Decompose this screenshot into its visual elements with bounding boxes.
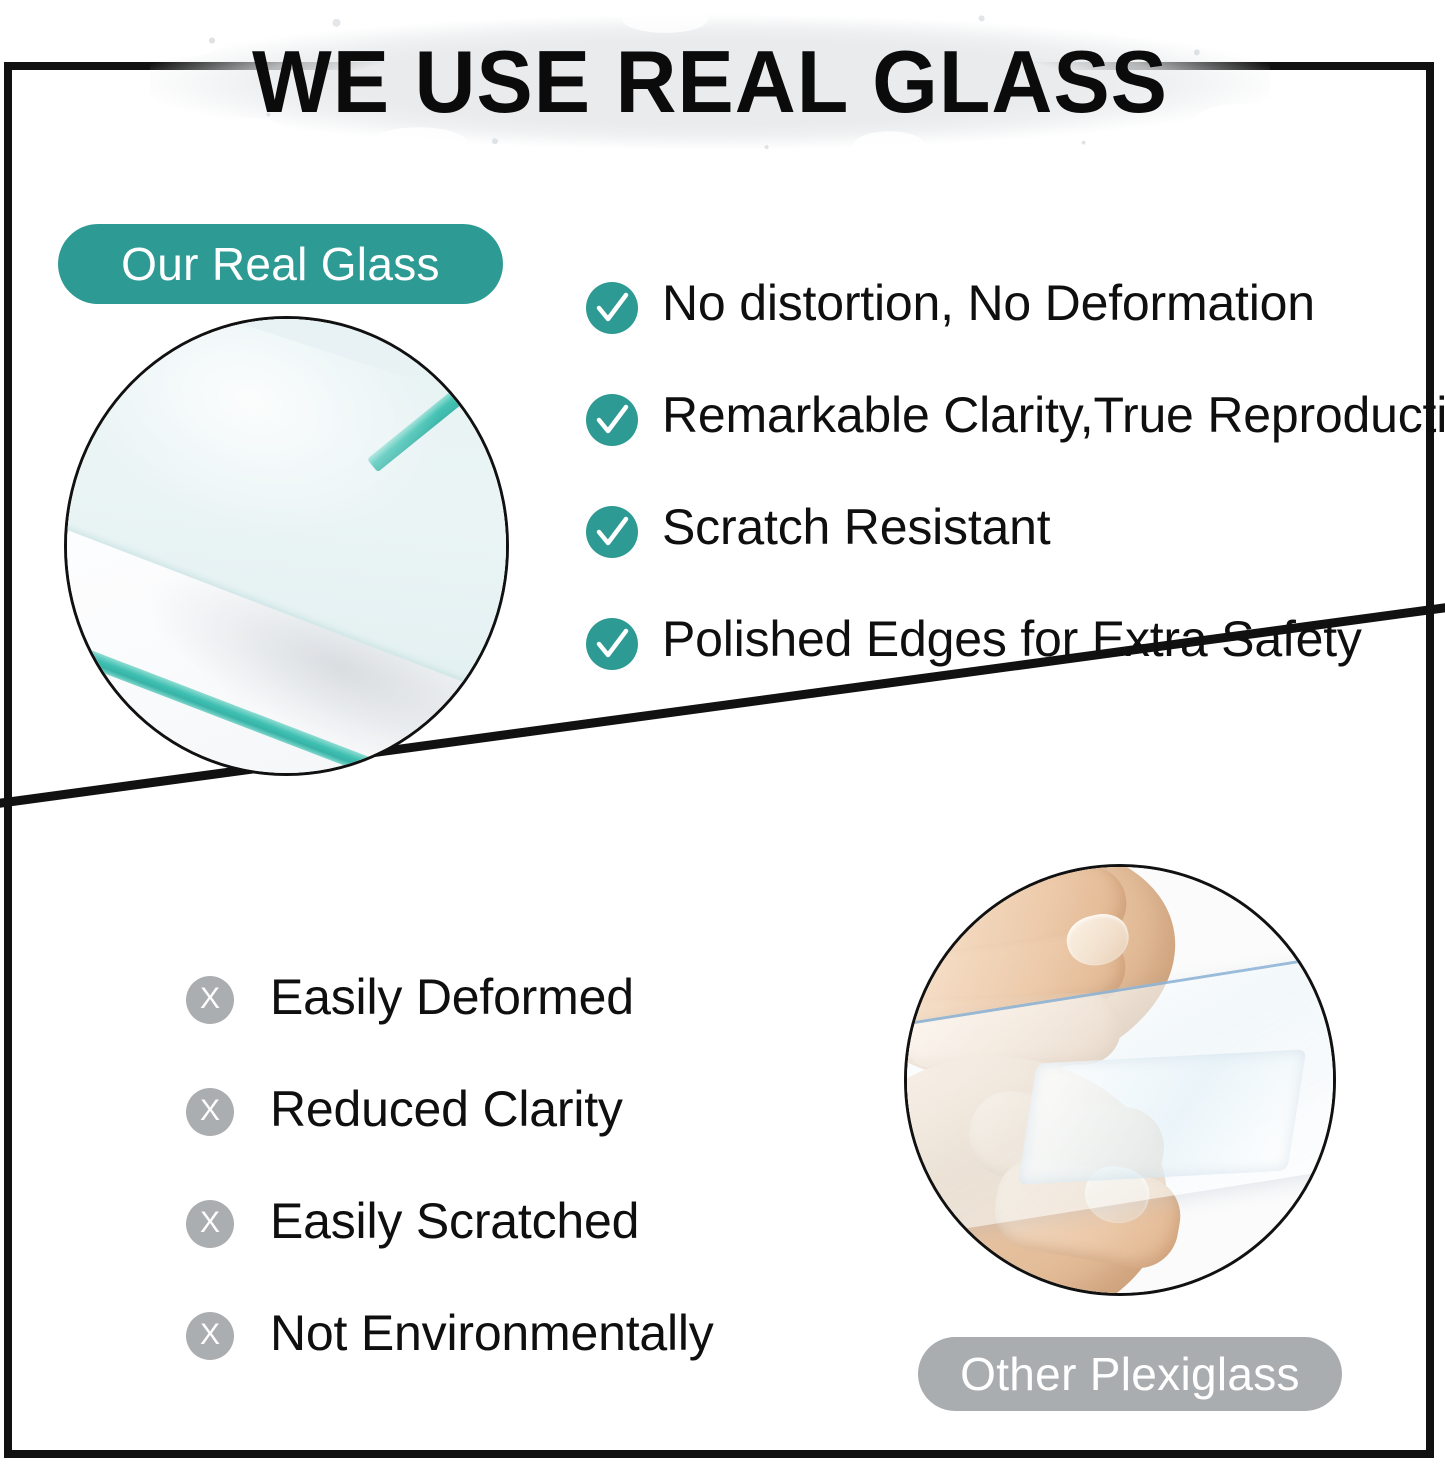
list-item: X Easily Scratched [186, 1200, 886, 1312]
list-item-label: Easily Deformed [270, 968, 634, 1026]
infographic-canvas: WE USE REAL GLASS Our Real Glass No dist… [0, 0, 1445, 1470]
x-circle-icon: X [186, 1200, 234, 1248]
list-item-label: No distortion, No Deformation [662, 274, 1315, 332]
x-circle-icon-glyph: X [200, 984, 220, 1014]
check-circle-icon [586, 618, 638, 670]
x-circle-icon: X [186, 976, 234, 1024]
check-circle-icon [586, 506, 638, 558]
list-item: Scratch Resistant [586, 506, 1426, 618]
list-item-label: Not Environmentally [270, 1304, 714, 1362]
list-item: Remarkable Clarity,True Reproduction [586, 394, 1426, 506]
plexiglass-sheet-bend [1018, 1049, 1307, 1184]
list-item-label: Reduced Clarity [270, 1080, 623, 1138]
x-circle-icon: X [186, 1312, 234, 1360]
plexiglass-photo [904, 864, 1336, 1296]
disadvantages-list: X Easily Deformed X Reduced Clarity X Ea… [186, 976, 886, 1424]
list-item: X Not Environmentally [186, 1312, 886, 1424]
real-glass-photo-scene [67, 319, 506, 773]
check-circle-icon [586, 282, 638, 334]
advantages-list: No distortion, No Deformation Remarkable… [586, 282, 1426, 730]
page-title: WE USE REAL GLASS [172, 14, 1247, 150]
x-circle-icon-glyph: X [200, 1208, 220, 1238]
list-item: Polished Edges for Extra Safety [586, 618, 1426, 730]
our-real-glass-badge: Our Real Glass [58, 224, 503, 304]
plexiglass-photo-scene [907, 867, 1333, 1293]
list-item-label: Scratch Resistant [662, 498, 1050, 556]
list-item-label: Easily Scratched [270, 1192, 639, 1250]
list-item: X Reduced Clarity [186, 1088, 886, 1200]
x-circle-icon: X [186, 1088, 234, 1136]
list-item-label: Polished Edges for Extra Safety [662, 610, 1362, 668]
x-circle-icon-glyph: X [200, 1320, 220, 1350]
our-real-glass-badge-label: Our Real Glass [121, 237, 440, 291]
check-circle-icon [586, 394, 638, 446]
real-glass-photo [64, 316, 509, 776]
list-item: X Easily Deformed [186, 976, 886, 1088]
other-plexiglass-badge-label: Other Plexiglass [960, 1347, 1300, 1401]
list-item: No distortion, No Deformation [586, 282, 1426, 394]
other-plexiglass-badge: Other Plexiglass [918, 1337, 1342, 1411]
x-circle-icon-glyph: X [200, 1096, 220, 1126]
list-item-label: Remarkable Clarity,True Reproduction [662, 386, 1445, 444]
